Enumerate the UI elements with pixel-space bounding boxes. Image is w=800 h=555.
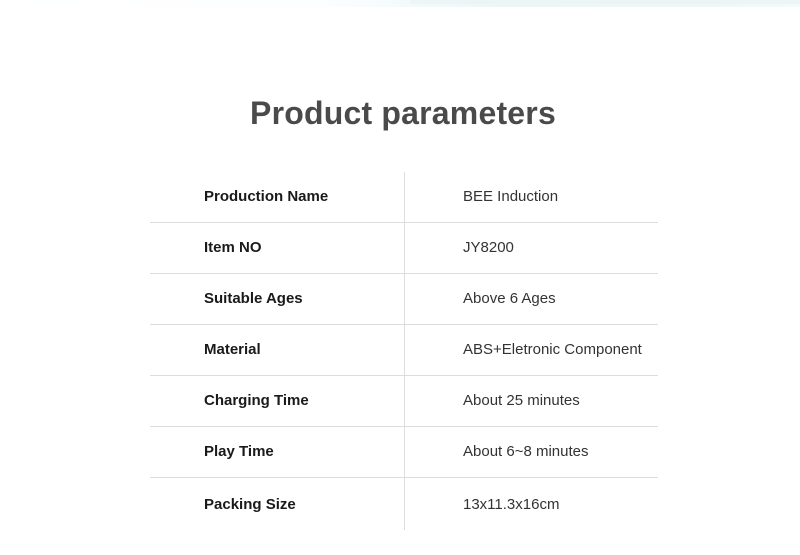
spec-value: About 25 minutes: [463, 391, 580, 411]
table-row: Material ABS+Eletronic Component: [150, 325, 658, 376]
spec-label: Production Name: [204, 187, 328, 207]
spec-label: Material: [204, 340, 261, 360]
spec-value: 13x11.3x16cm: [463, 495, 559, 515]
table-row: Suitable Ages Above 6 Ages: [150, 274, 658, 325]
spec-label: Packing Size: [204, 495, 296, 515]
product-parameters-table: Production Name BEE Induction Item NO JY…: [150, 172, 658, 532]
spec-value: JY8200: [463, 238, 514, 258]
spec-label: Item NO: [204, 238, 262, 258]
spec-value: Above 6 Ages: [463, 289, 556, 309]
table-row: Charging Time About 25 minutes: [150, 376, 658, 427]
table-row: Packing Size 13x11.3x16cm: [150, 478, 658, 531]
table-row: Play Time About 6~8 minutes: [150, 427, 658, 478]
table-row: Item NO JY8200: [150, 223, 658, 274]
spec-value: ABS+Eletronic Component: [463, 340, 642, 360]
spec-label: Charging Time: [204, 391, 309, 411]
spec-label: Suitable Ages: [204, 289, 303, 309]
spec-value: About 6~8 minutes: [463, 442, 589, 462]
page-title: Product parameters: [0, 92, 800, 134]
spec-label: Play Time: [204, 442, 274, 462]
top-color-band-accent: [410, 0, 800, 4]
table-row: Production Name BEE Induction: [150, 172, 658, 223]
spec-value: BEE Induction: [463, 187, 558, 207]
